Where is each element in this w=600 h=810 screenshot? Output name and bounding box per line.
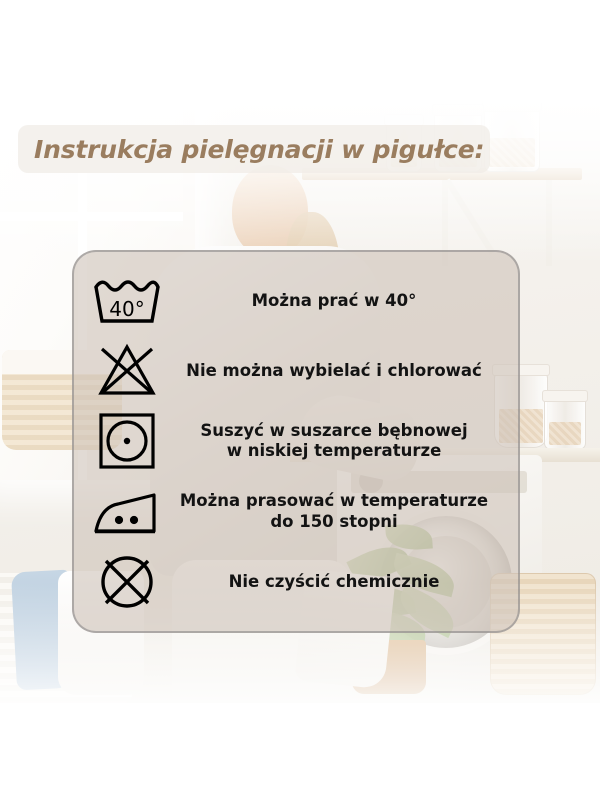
svg-text:40°: 40°: [109, 297, 144, 321]
care-label: Suszyć w suszarce bębnowej w niskiej tem…: [170, 421, 504, 462]
title-banner: Instrukcja pielęgnacji w pigułce:: [18, 125, 490, 173]
care-row: Suszyć w suszarce bębnowej w niskiej tem…: [84, 410, 504, 472]
wash-tub-40-icon: 40°: [84, 275, 170, 327]
care-label: Można prasować w temperaturze do 150 sto…: [170, 491, 504, 532]
care-label: Nie czyścić chemicznie: [170, 572, 504, 593]
care-label: Można prać w 40°: [170, 291, 504, 312]
storage-jar: [544, 398, 586, 450]
care-instructions-panel: 40° Można prać w 40° Nie można wybielać …: [72, 250, 520, 633]
iron-two-dots-icon: [84, 487, 170, 537]
care-row: 40° Można prać w 40°: [84, 270, 504, 332]
care-label: Nie można wybielać i chlorować: [170, 361, 504, 382]
care-row: Nie można wybielać i chlorować: [84, 340, 504, 402]
page-title: Instrukcja pielęgnacji w pigułce:: [18, 135, 484, 164]
care-row: Nie czyścić chemicznie: [84, 551, 504, 613]
care-row: Można prasować w temperaturze do 150 sto…: [84, 481, 504, 543]
tumble-dry-low-icon: [84, 412, 170, 470]
no-bleach-triangle-icon: [84, 343, 170, 399]
do-not-dry-clean-icon: [84, 553, 170, 611]
